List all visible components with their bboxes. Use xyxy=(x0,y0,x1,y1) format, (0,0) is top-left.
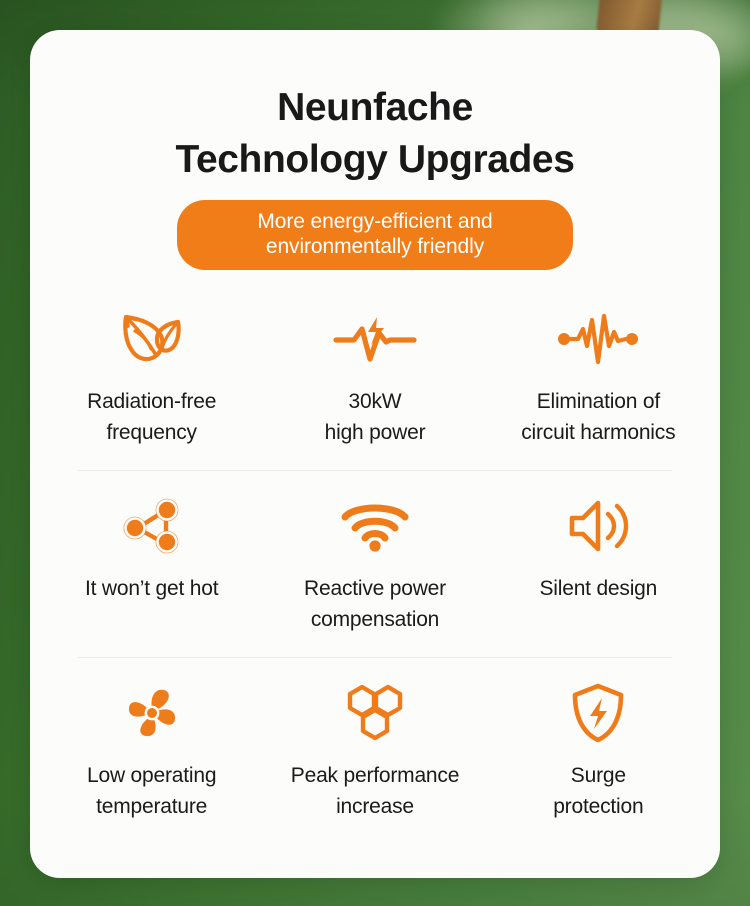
feature-item-reactive-power: Reactive power compensation xyxy=(263,485,486,635)
feature-label: Radiation-free frequency xyxy=(46,386,257,448)
tagline-line-1: More energy-efficient and xyxy=(211,209,539,234)
feature-label: Low operating temperature xyxy=(46,760,257,822)
feature-item-low-temperature: Low operating temperature xyxy=(40,672,263,822)
tagline-badge: More energy-efficient and environmentall… xyxy=(177,200,573,270)
honeycomb-hexagons-icon xyxy=(269,680,480,746)
leaves-icon xyxy=(46,306,257,372)
feature-label: Peak performance increase xyxy=(269,760,480,822)
feature-label: It won’t get hot xyxy=(46,573,257,604)
feature-item-radiation-free: Radiation-free frequency xyxy=(40,298,263,448)
speaker-sound-icon xyxy=(493,493,704,559)
feature-row-1: Radiation-free frequency 30kW high power xyxy=(40,298,710,448)
feature-label: 30kW high power xyxy=(269,386,480,448)
badge-wrapper: More energy-efficient and environmentall… xyxy=(30,200,720,270)
feature-label: Surge protection xyxy=(493,760,704,822)
power-waveform-icon xyxy=(269,306,480,372)
fan-blades-icon xyxy=(46,680,257,746)
feature-card: Neunfache Technology Upgrades More energ… xyxy=(30,30,720,878)
page-title-line-1: Neunfache xyxy=(30,82,720,134)
share-network-icon xyxy=(46,493,257,559)
tagline-line-2: environmentally friendly xyxy=(211,234,539,259)
feature-label: Silent design xyxy=(493,573,704,604)
feature-grid: Radiation-free frequency 30kW high power xyxy=(30,298,720,822)
heading-block: Neunfache Technology Upgrades xyxy=(30,30,720,186)
page-title-line-2: Technology Upgrades xyxy=(30,134,720,186)
wifi-signal-icon xyxy=(269,493,480,559)
shield-bolt-icon xyxy=(493,680,704,746)
feature-row-3: Low operating temperature Peak performan… xyxy=(40,658,710,822)
feature-row-2: It won’t get hot Reactive power compensa… xyxy=(40,471,710,635)
pulse-waveform-icon xyxy=(493,306,704,372)
feature-label: Elimination of circuit harmonics xyxy=(493,386,704,448)
feature-item-no-heat: It won’t get hot xyxy=(40,485,263,604)
feature-item-surge-protection: Surge protection xyxy=(487,672,710,822)
feature-item-peak-performance: Peak performance increase xyxy=(263,672,486,822)
feature-label: Reactive power compensation xyxy=(269,573,480,635)
feature-item-high-power: 30kW high power xyxy=(263,298,486,448)
feature-item-silent: Silent design xyxy=(487,485,710,604)
feature-item-harmonics: Elimination of circuit harmonics xyxy=(487,298,710,448)
